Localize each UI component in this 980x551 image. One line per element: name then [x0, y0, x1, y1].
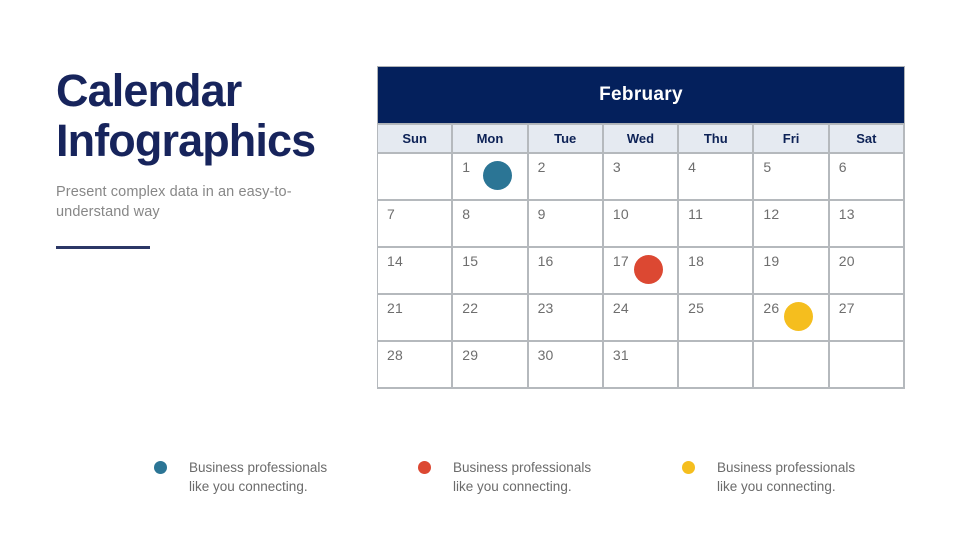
calendar-event-dot-icon[interactable]	[784, 302, 813, 331]
calendar-day-cell[interactable]: 9	[529, 201, 604, 248]
calendar-dayname-fri: Fri	[754, 125, 829, 154]
calendar-day-number: 12	[763, 207, 827, 222]
page-title: Calendar Infographics	[56, 66, 356, 166]
calendar-day-number: 25	[688, 301, 752, 316]
calendar-day-number: 7	[387, 207, 451, 222]
calendar-day-cell[interactable]: 24	[604, 295, 679, 342]
legend-dot-icon	[682, 461, 695, 474]
calendar-day-cell[interactable]: 10	[604, 201, 679, 248]
legend-label: Business professionals like you connecti…	[189, 458, 327, 496]
calendar-day-number: 30	[538, 348, 602, 363]
calendar-day-number: 3	[613, 160, 677, 175]
calendar-dayname-thu: Thu	[679, 125, 754, 154]
calendar-day-number: 6	[839, 160, 903, 175]
calendar-dayname-label: Mon	[477, 131, 504, 146]
calendar-day-number: 21	[387, 301, 451, 316]
calendar-day-number: 8	[462, 207, 526, 222]
calendar-day-number: 31	[613, 348, 677, 363]
calendar-day-number: 14	[387, 254, 451, 269]
calendar-dayname-label: Fri	[783, 131, 800, 146]
calendar-dayname-wed: Wed	[604, 125, 679, 154]
calendar-empty-cell	[679, 342, 754, 389]
legend-label: Business professionals like you connecti…	[717, 458, 855, 496]
calendar-day-cell[interactable]: 18	[679, 248, 754, 295]
calendar-day-number: 23	[538, 301, 602, 316]
calendar-day-number: 10	[613, 207, 677, 222]
calendar-day-cell[interactable]: 23	[529, 295, 604, 342]
heading-block: Calendar Infographics Present complex da…	[56, 66, 356, 249]
calendar-day-number: 5	[763, 160, 827, 175]
calendar-day-cell[interactable]: 12	[754, 201, 829, 248]
calendar-day-cell[interactable]: 8	[453, 201, 528, 248]
legend-label: Business professionals like you connecti…	[453, 458, 591, 496]
calendar-day-cell[interactable]: 28	[378, 342, 453, 389]
calendar-dayname-tue: Tue	[529, 125, 604, 154]
calendar-day-cell[interactable]: 19	[754, 248, 829, 295]
calendar-grid: SunMonTueWedThuFriSat1234567891011121314…	[377, 124, 905, 389]
calendar-day-cell[interactable]: 5	[754, 154, 829, 201]
calendar-day-cell[interactable]: 16	[529, 248, 604, 295]
calendar-day-cell[interactable]: 27	[830, 295, 905, 342]
calendar-dayname-sun: Sun	[378, 125, 453, 154]
calendar-day-cell[interactable]: 2	[529, 154, 604, 201]
calendar-day-cell[interactable]: 20	[830, 248, 905, 295]
calendar-day-number: 27	[839, 301, 903, 316]
calendar-day-cell[interactable]: 1	[453, 154, 528, 201]
calendar-day-cell[interactable]: 17	[604, 248, 679, 295]
calendar-dayname-label: Sun	[402, 131, 427, 146]
calendar-day-cell[interactable]: 13	[830, 201, 905, 248]
calendar-day-number: 4	[688, 160, 752, 175]
calendar-day-cell[interactable]: 14	[378, 248, 453, 295]
calendar-day-cell[interactable]: 25	[679, 295, 754, 342]
calendar-day-cell[interactable]: 6	[830, 154, 905, 201]
calendar-empty-cell	[378, 154, 453, 201]
calendar-month-label: February	[599, 84, 683, 106]
calendar-day-number: 15	[462, 254, 526, 269]
calendar-dayname-label: Sat	[856, 131, 876, 146]
calendar-dayname-label: Wed	[627, 131, 654, 146]
calendar-day-number: 9	[538, 207, 602, 222]
calendar-event-dot-icon[interactable]	[634, 255, 663, 284]
calendar-day-cell[interactable]: 4	[679, 154, 754, 201]
calendar-day-cell[interactable]: 29	[453, 342, 528, 389]
calendar-day-cell[interactable]: 22	[453, 295, 528, 342]
legend: Business professionals like you connecti…	[154, 458, 868, 496]
calendar-day-number: 13	[839, 207, 903, 222]
calendar-event-dot-icon[interactable]	[483, 161, 512, 190]
accent-divider	[56, 246, 150, 249]
calendar-widget: February SunMonTueWedThuFriSat1234567891…	[377, 66, 905, 389]
calendar-day-number: 24	[613, 301, 677, 316]
calendar-month-header: February	[377, 66, 905, 124]
calendar-day-cell[interactable]: 15	[453, 248, 528, 295]
calendar-day-number: 29	[462, 348, 526, 363]
page-subtitle: Present complex data in an easy-to-under…	[56, 182, 308, 222]
calendar-day-number: 20	[839, 254, 903, 269]
legend-dot-icon	[154, 461, 167, 474]
legend-dot-icon	[418, 461, 431, 474]
calendar-dayname-mon: Mon	[453, 125, 528, 154]
calendar-dayname-label: Tue	[554, 131, 576, 146]
calendar-day-cell[interactable]: 3	[604, 154, 679, 201]
calendar-day-number: 16	[538, 254, 602, 269]
legend-item: Business professionals like you connecti…	[418, 458, 604, 496]
calendar-day-cell[interactable]: 30	[529, 342, 604, 389]
calendar-empty-cell	[830, 342, 905, 389]
calendar-dayname-sat: Sat	[830, 125, 905, 154]
legend-item: Business professionals like you connecti…	[682, 458, 868, 496]
calendar-day-cell[interactable]: 7	[378, 201, 453, 248]
calendar-day-number: 11	[688, 207, 752, 222]
calendar-day-cell[interactable]: 11	[679, 201, 754, 248]
calendar-day-cell[interactable]: 26	[754, 295, 829, 342]
calendar-day-number: 2	[538, 160, 602, 175]
calendar-day-cell[interactable]: 21	[378, 295, 453, 342]
slide-canvas: Calendar Infographics Present complex da…	[0, 0, 980, 551]
calendar-day-number: 28	[387, 348, 451, 363]
calendar-day-number: 22	[462, 301, 526, 316]
calendar-empty-cell	[754, 342, 829, 389]
calendar-day-number: 18	[688, 254, 752, 269]
calendar-day-cell[interactable]: 31	[604, 342, 679, 389]
calendar-dayname-label: Thu	[704, 131, 728, 146]
legend-item: Business professionals like you connecti…	[154, 458, 340, 496]
calendar-day-number: 19	[763, 254, 827, 269]
